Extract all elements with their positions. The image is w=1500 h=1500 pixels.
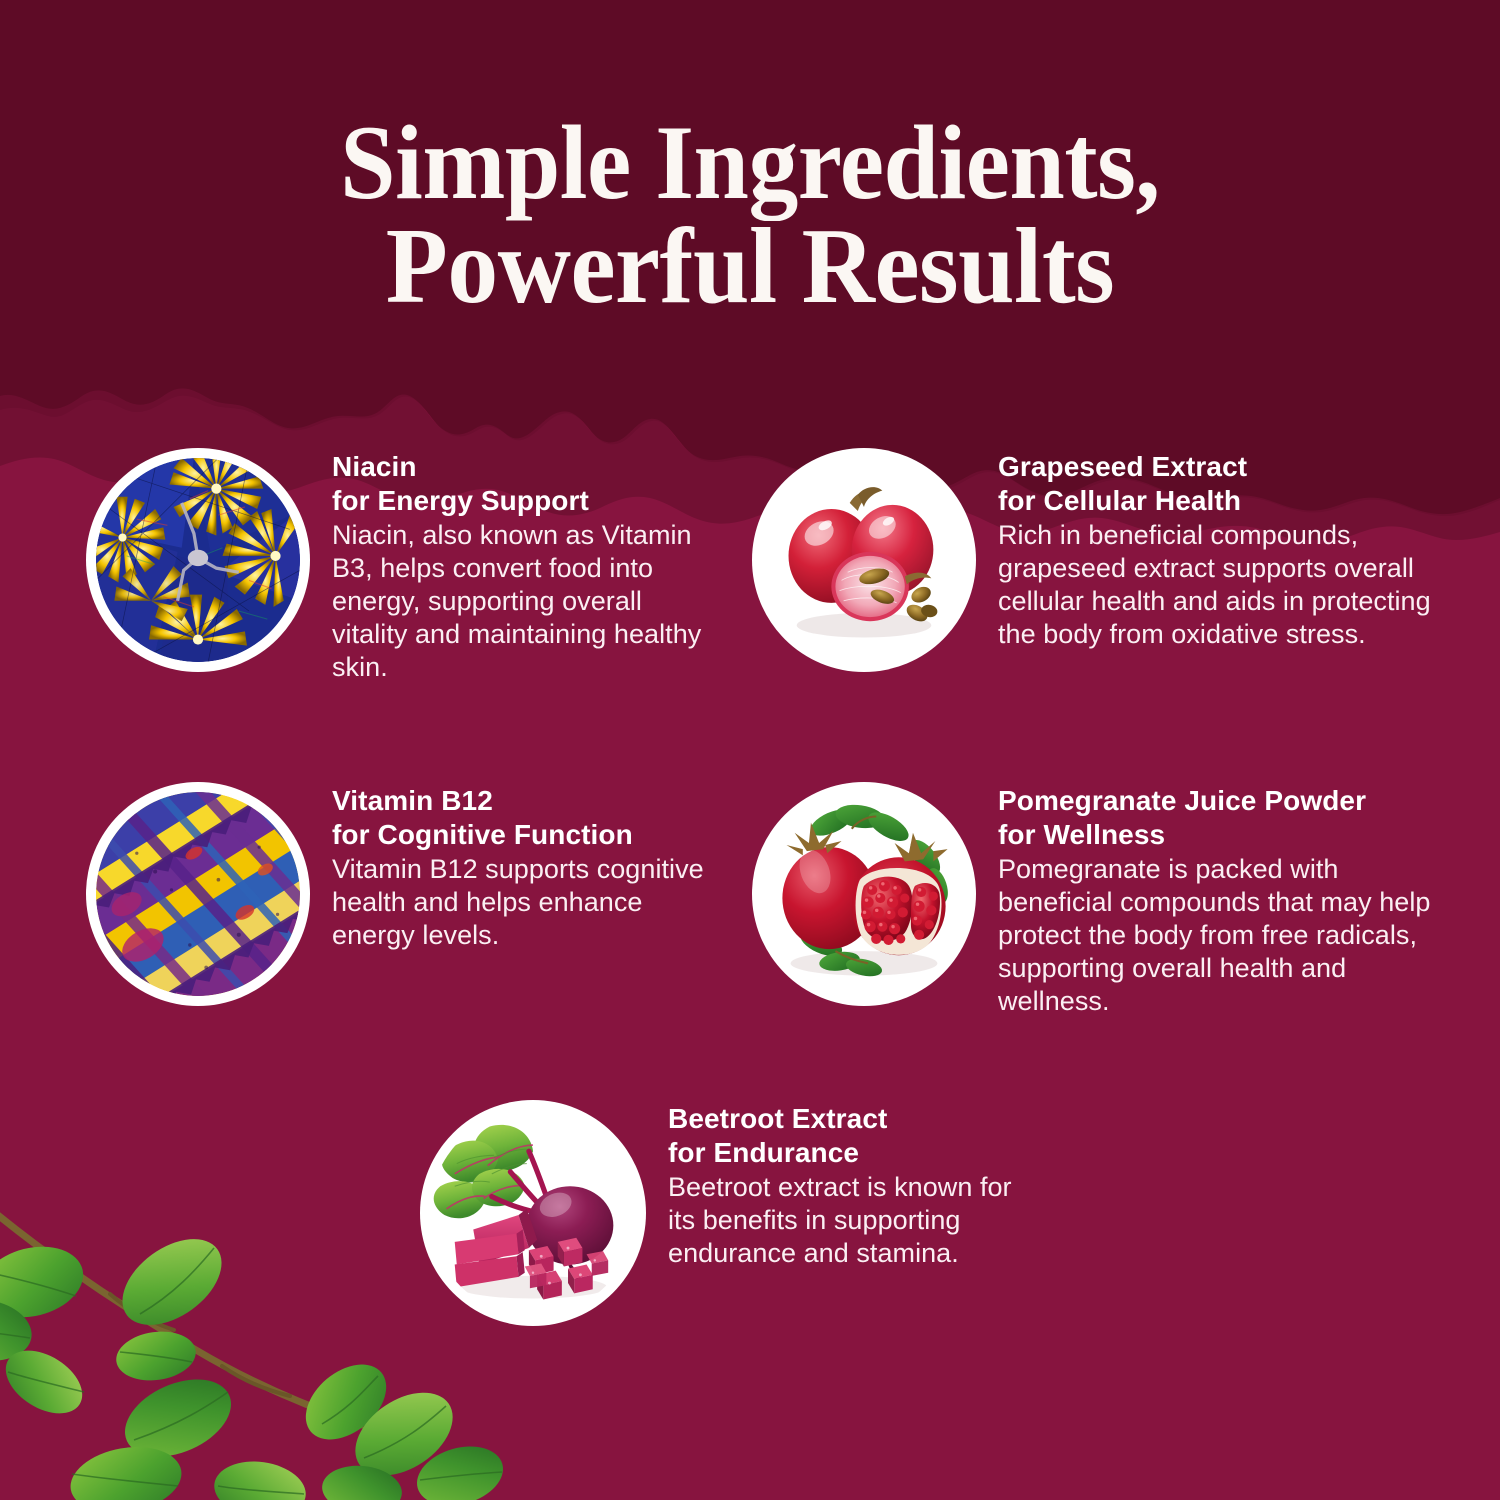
ingredient-text-beetroot: Beetroot Extract for Endurance Beetroot …	[668, 1100, 1038, 1270]
ingredient-text-vitamin-b12: Vitamin B12 for Cognitive Function Vitam…	[332, 782, 712, 952]
title-line-2: Powerful Results	[45, 215, 1455, 320]
page-title: Simple Ingredients, Powerful Results	[0, 112, 1500, 320]
ingredient-thumbnail-grapeseed	[752, 448, 976, 672]
ingredient-text-pomegranate: Pomegranate Juice Powder for Wellness Po…	[998, 782, 1450, 1018]
ingredient-card-beetroot: Beetroot Extract for Endurance Beetroot …	[420, 1100, 1060, 1326]
ingredient-name: Niacin	[332, 450, 704, 484]
ingredient-text-grapeseed: Grapeseed Extract for Cellular Health Ri…	[998, 448, 1442, 651]
ingredient-description: Pomegranate is packed with beneficial co…	[998, 853, 1450, 1018]
pomegranate-fruit-image	[762, 792, 966, 996]
ingredient-benefit: for Endurance	[668, 1136, 1038, 1170]
ingredient-benefit: for Energy Support	[332, 484, 704, 518]
ingredient-card-niacin: Niacin for Energy Support Niacin, also k…	[86, 448, 726, 684]
ingredient-name: Pomegranate Juice Powder	[998, 784, 1450, 818]
ingredient-card-vitamin-b12: Vitamin B12 for Cognitive Function Vitam…	[86, 782, 726, 1006]
ingredient-name: Grapeseed Extract	[998, 450, 1442, 484]
vitamin-b12-crystal-micrograph-image	[96, 792, 300, 996]
ingredient-description: Vitamin B12 supports cognitive health an…	[332, 853, 712, 952]
niacin-crystal-micrograph-image	[96, 458, 300, 662]
ingredient-card-grapeseed: Grapeseed Extract for Cellular Health Ri…	[752, 448, 1452, 672]
infographic-canvas: Simple Ingredients, Powerful Results	[0, 0, 1500, 1500]
red-grapes-image	[762, 458, 966, 662]
ingredient-benefit: for Wellness	[998, 818, 1450, 852]
ingredient-description: Beetroot extract is known for its benefi…	[668, 1171, 1038, 1270]
ingredient-name: Beetroot Extract	[668, 1102, 1038, 1136]
ingredient-description: Rich in beneficial compounds, grapeseed …	[998, 519, 1442, 651]
ingredient-thumbnail-pomegranate	[752, 782, 976, 1006]
ingredient-thumbnail-vitamin-b12	[86, 782, 310, 1006]
ingredient-description: Niacin, also known as Vitamin B3, helps …	[332, 519, 704, 684]
title-line-1: Simple Ingredients,	[45, 112, 1455, 215]
beetroot-image	[430, 1110, 636, 1316]
ingredient-benefit: for Cognitive Function	[332, 818, 712, 852]
ingredient-thumbnail-niacin	[86, 448, 310, 672]
ingredient-card-pomegranate: Pomegranate Juice Powder for Wellness Po…	[752, 782, 1462, 1018]
ingredient-thumbnail-beetroot	[420, 1100, 646, 1326]
ingredient-name: Vitamin B12	[332, 784, 712, 818]
ingredient-text-niacin: Niacin for Energy Support Niacin, also k…	[332, 448, 704, 684]
ingredient-benefit: for Cellular Health	[998, 484, 1442, 518]
